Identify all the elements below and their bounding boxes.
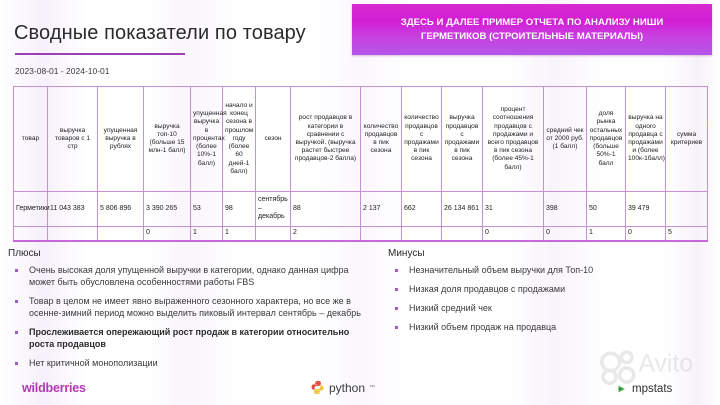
table-header-cell-seller-growth: рост продавцов в категории в сравнении с… xyxy=(291,87,361,192)
pros-section: Плюсы Очень высокая доля упущенной выруч… xyxy=(8,248,374,377)
table-header-cell-revenue-first-page: выручка товаров с 1 стр xyxy=(48,87,98,192)
title-underline-rule xyxy=(15,53,185,55)
table-score-cell-average-check: 0 xyxy=(544,227,587,242)
table-header-cell-sellers-peak: количество продавцов в пик сезона xyxy=(361,87,402,192)
list-item: Низкая доля продавцов с продажами xyxy=(388,284,708,296)
bullet-square-icon xyxy=(15,269,18,272)
table-header-cell-sellers-ratio-pct: процент соотношения продавцов с продажам… xyxy=(483,87,544,192)
table-header-cell-market-share-others: доля рынка остальных продавцов (больше 5… xyxy=(587,87,626,192)
python-logo: python ™ xyxy=(310,380,375,395)
cons-section: Минусы Незначительный объем выручки для … xyxy=(388,248,708,341)
list-item: Низкий объем продаж на продавца xyxy=(388,322,708,334)
pros-item-text: Очень высокая доля упущенной выручки в к… xyxy=(29,265,349,287)
table-cell-season-bounds: 98 xyxy=(223,192,256,227)
table-cell-top10-revenue: 3 390 265 xyxy=(144,192,191,227)
info-banner-text: ЗДЕСЬ И ДАЛЕЕ ПРИМЕР ОТЧЕТА ПО АНАЛИЗУ Н… xyxy=(352,16,712,44)
wildberries-logo: wildberries xyxy=(22,381,86,395)
mpstats-logo-text: mpstats xyxy=(632,383,672,395)
slide-canvas: Сводные показатели по товару 2023-08-01 … xyxy=(0,0,720,405)
pros-item-text: Нет критичной монополизации xyxy=(29,358,158,368)
bullet-square-icon xyxy=(395,326,398,329)
bullet-square-icon xyxy=(395,307,398,310)
python-trademark-symbol: ™ xyxy=(369,385,375,391)
table-header-cell-revenue-per-seller: выручка на одного продавца с продажами и… xyxy=(626,87,666,192)
table-header-cell-top10-revenue: выручка топ-10 (больше 15 млн-1 балл) xyxy=(144,87,191,192)
python-icon xyxy=(310,380,325,395)
table-score-cell-revenue-sellers-peak xyxy=(442,227,483,242)
list-item: Нет критичной монополизации xyxy=(8,358,374,370)
table-cell-revenue-sellers-peak: 26 134 861 xyxy=(442,192,483,227)
list-item: Очень высокая доля упущенной выручки в к… xyxy=(8,265,374,289)
date-range-label: 2023-08-01 - 2024-10-01 xyxy=(15,66,110,76)
list-item: Прослеживается опережающий рост продаж в… xyxy=(8,327,374,351)
table-cell-sellers-ratio-pct: 31 xyxy=(483,192,544,227)
table-score-cell-revenue-per-seller: 0 xyxy=(626,227,666,242)
table-header-row: товар выручка товаров с 1 стр упущенная … xyxy=(14,87,708,192)
table-header-cell-товар: товар xyxy=(14,87,48,192)
table-score-row: 0 1 1 2 0 0 1 0 5 xyxy=(14,227,708,242)
table-row: Герметики 11 043 383 5 806 896 3 390 265… xyxy=(14,192,708,227)
pros-item-text: Прослеживается опережающий рост продаж в… xyxy=(29,327,349,349)
table-score-cell-sellers-peak xyxy=(361,227,402,242)
mpstats-logo: mpstats xyxy=(617,383,672,395)
bullet-square-icon xyxy=(15,331,18,334)
table-score-cell-top10-revenue: 0 xyxy=(144,227,191,242)
table-header-cell-sellers-with-sales-peak: количество продавцов с продажами в пик с… xyxy=(402,87,442,192)
table-cell-sellers-with-sales-peak: 662 xyxy=(402,192,442,227)
page-title: Сводные показатели по товару xyxy=(14,22,306,45)
pros-list: Очень высокая доля упущенной выручки в к… xyxy=(8,265,374,370)
list-item: Товар в целом не имеет явно выраженного … xyxy=(8,296,374,320)
table-cell-lost-revenue-rub: 5 806 896 xyxy=(98,192,144,227)
table-score-cell-sellers-ratio-pct: 0 xyxy=(483,227,544,242)
table-header-cell-lost-revenue-rub: упущенная выручка в рублях xyxy=(98,87,144,192)
list-item: Незначительный объем выручки для Топ-10 xyxy=(388,265,708,277)
table-cell-revenue-per-seller: 39 479 xyxy=(626,192,666,227)
cons-item-text: Незначительный объем выручки для Топ-10 xyxy=(409,265,593,275)
list-item: Низкий средний чек xyxy=(388,303,708,315)
table-cell-average-check: 398 xyxy=(544,192,587,227)
cons-item-text: Низкий средний чек xyxy=(409,303,492,313)
cons-title: Минусы xyxy=(388,248,708,259)
table-cell-product: Герметики xyxy=(14,192,48,227)
table-score-cell-market-share-others: 1 xyxy=(587,227,626,242)
bullet-square-icon xyxy=(395,288,398,291)
cons-item-text: Низкий объем продаж на продавца xyxy=(409,322,556,332)
table-score-cell-criteria-sum: 5 xyxy=(666,227,708,242)
table-cell-seller-growth: 88 xyxy=(291,192,361,227)
bullet-square-icon xyxy=(15,362,18,365)
bullet-square-icon xyxy=(395,269,398,272)
table-cell-season: сентябрь – декабрь xyxy=(256,192,291,227)
pros-title: Плюсы xyxy=(8,248,374,259)
table-header-cell-criteria-sum: сумма критериев xyxy=(666,87,708,192)
table-cell-market-share-others: 50 xyxy=(587,192,626,227)
bullet-square-icon xyxy=(15,300,18,303)
table-score-cell-season xyxy=(256,227,291,242)
cons-list: Незначительный объем выручки для Топ-10 … xyxy=(388,265,708,334)
mpstats-arrow-icon xyxy=(617,383,629,395)
table-cell-sellers-peak: 2 137 xyxy=(361,192,402,227)
table-cell-criteria-sum xyxy=(666,192,708,227)
info-banner: ЗДЕСЬ И ДАЛЕЕ ПРИМЕР ОТЧЕТА ПО АНАЛИЗУ Н… xyxy=(352,4,712,55)
summary-table-container: товар выручка товаров с 1 стр упущенная … xyxy=(13,86,707,242)
table-score-cell-season-bounds: 1 xyxy=(223,227,256,242)
table-score-cell-sellers-with-sales-peak xyxy=(402,227,442,242)
table-header-cell-season: сезон xyxy=(256,87,291,192)
table-score-cell-revenue-first-page xyxy=(48,227,98,242)
table-score-cell-lost-revenue-rub xyxy=(98,227,144,242)
table-score-cell-seller-growth: 2 xyxy=(291,227,361,242)
table-score-cell-lost-revenue-pct: 1 xyxy=(191,227,223,242)
pros-item-text: Товар в целом не имеет явно выраженного … xyxy=(29,296,361,318)
python-logo-text: python xyxy=(329,381,365,395)
table-header-cell-average-check: средний чек от 2000 руб.(1 балл) xyxy=(544,87,587,192)
summary-table: товар выручка товаров с 1 стр упущенная … xyxy=(13,86,708,242)
table-score-cell-product xyxy=(14,227,48,242)
table-cell-lost-revenue-pct: 53 xyxy=(191,192,223,227)
cons-item-text: Низкая доля продавцов с продажами xyxy=(409,284,565,294)
table-header-cell-revenue-sellers-peak: выручка продавцов с продажами в пик сезо… xyxy=(442,87,483,192)
table-header-cell-lost-revenue-pct: упущенная выручка в процентах (более 10%… xyxy=(191,87,223,192)
table-header-cell-season-bounds: начало и конец сезона в прошлом году (бо… xyxy=(223,87,256,192)
table-cell-revenue-first-page: 11 043 383 xyxy=(48,192,98,227)
